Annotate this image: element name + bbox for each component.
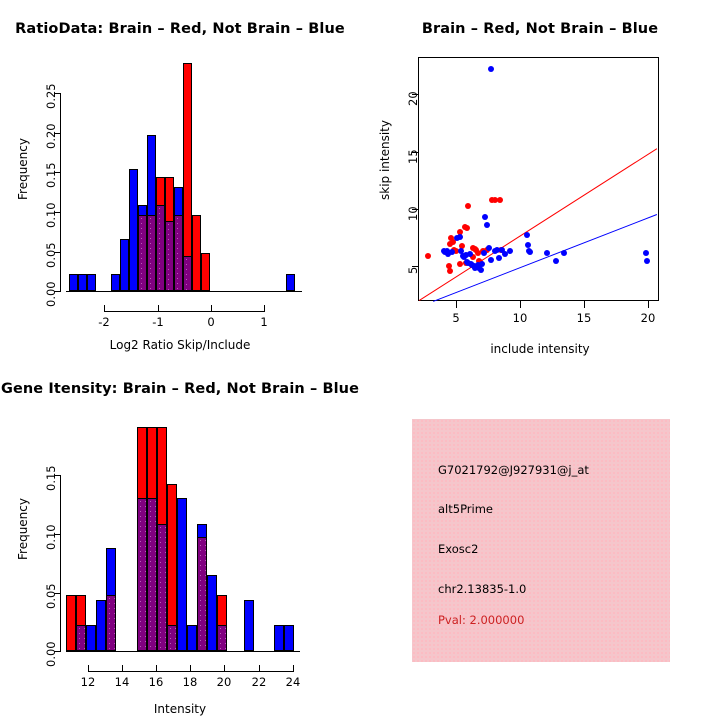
table-row <box>111 274 120 291</box>
table-row <box>167 625 177 651</box>
ratio-histogram-ytick-label-4: 0.20 <box>44 123 58 149</box>
gene-histogram-xtick-label-5: 22 <box>241 675 277 689</box>
ratio-histogram-ytick-label-5: 0.25 <box>44 83 58 109</box>
scatter-xtick-label-0: 5 <box>438 311 474 325</box>
figure-canvas: RatioData: Brain – Red, Not Brain – Blue… <box>0 0 720 720</box>
list-item <box>488 66 494 72</box>
probe-id-text: G7021792@J927931@j_at <box>438 463 589 477</box>
gene-histogram-xtick-label-2: 16 <box>138 675 174 689</box>
ratio-histogram-xtick-label-0: -2 <box>86 315 122 329</box>
list-item <box>496 255 502 261</box>
table-row <box>217 625 227 651</box>
locus-text: chr2.13835-1.0 <box>438 582 526 596</box>
xtick-1 <box>158 305 159 312</box>
pval-text: Pval: 2.000000 <box>438 613 524 627</box>
gene-xtick-4 <box>224 665 225 672</box>
table-row <box>284 625 294 651</box>
gene-histogram-xtick-label-4: 20 <box>206 675 242 689</box>
ratio-histogram-ytick-label-0: 0.00 <box>44 281 58 307</box>
table-row <box>76 625 86 651</box>
list-item <box>527 249 533 255</box>
table-row <box>86 625 96 651</box>
list-item <box>482 214 488 220</box>
panel-ratio-histogram: RatioData: Brain – Red, Not Brain – Blue… <box>0 0 360 360</box>
gene-xtick-3 <box>190 665 191 672</box>
table-row <box>147 498 157 651</box>
ratio-histogram-xaxis <box>104 311 265 312</box>
scatter-ytick-label-0: 5 <box>406 267 420 274</box>
table-row <box>165 221 174 291</box>
ratio-histogram-title: RatioData: Brain – Red, Not Brain – Blue <box>0 21 360 37</box>
scatter-ylabel: skip intensity <box>378 120 392 200</box>
list-item <box>425 253 431 259</box>
ratio-histogram-xtick-label-1: -1 <box>140 315 176 329</box>
list-item <box>465 203 471 209</box>
list-item <box>481 250 487 256</box>
scatter-xtick-1 <box>520 301 521 308</box>
gene-histogram-xtick-label-0: 12 <box>70 675 106 689</box>
brain-fit-line <box>419 148 657 301</box>
scatter-xtick-0 <box>456 301 457 308</box>
gene-histogram-xtick-label-1: 14 <box>104 675 140 689</box>
xtick-0 <box>104 305 105 312</box>
list-item <box>467 251 473 257</box>
scatter-xlabel: include intensity <box>360 342 720 356</box>
table-row <box>197 537 207 651</box>
ratio-histogram-ylabel: Frequency <box>16 138 30 200</box>
gene-histogram-baseline <box>66 651 300 652</box>
ratio-histogram-xtick-label-2: 0 <box>193 315 229 329</box>
list-item <box>447 268 453 274</box>
table-row <box>120 239 129 291</box>
table-row <box>157 524 167 651</box>
gene-xtick-0 <box>88 665 89 672</box>
scatter-plot-frame <box>418 57 659 301</box>
list-item <box>497 197 503 203</box>
table-row <box>192 215 201 291</box>
table-row <box>156 205 165 291</box>
gene-histogram-ytick-label-1: 0.05 <box>44 583 58 609</box>
gene-histogram-ytick-label-3: 0.15 <box>44 465 58 491</box>
table-row <box>183 256 192 291</box>
scatter-xtick-2 <box>584 301 585 308</box>
gene-xtick-6 <box>293 665 294 672</box>
scatter-xtick-3 <box>648 301 649 308</box>
table-row <box>187 625 197 651</box>
list-item <box>643 250 649 256</box>
table-row <box>87 274 96 291</box>
table-row <box>66 595 76 651</box>
ratio-histogram-baseline <box>66 291 302 292</box>
table-row <box>69 274 78 291</box>
event-type-text: alt5Prime <box>438 502 493 516</box>
gene-symbol-text: Exosc2 <box>438 542 478 556</box>
list-item <box>488 257 494 263</box>
xtick-2 <box>211 305 212 312</box>
gene-histogram-xlabel: Intensity <box>0 702 360 716</box>
scatter-xtick-label-1: 10 <box>502 311 538 325</box>
scatter-ytick-label-1: 10 <box>406 206 420 221</box>
ratio-histogram-yaxis <box>60 93 61 292</box>
gene-histogram-xtick-label-6: 24 <box>275 675 311 689</box>
scatter-ytick-label-3: 20 <box>406 91 420 106</box>
table-row <box>201 253 210 291</box>
gene-xtick-1 <box>122 665 123 672</box>
table-row <box>177 498 187 651</box>
table-row <box>244 600 254 651</box>
scatter-xtick-label-3: 20 <box>630 311 666 325</box>
table-row <box>274 625 284 651</box>
gene-histogram-ytick-label-2: 0.10 <box>44 524 58 550</box>
panel-scatter: Brain – Red, Not Brain – Blue skip inten… <box>360 0 720 360</box>
ratio-histogram-ytick-label-1: 0.05 <box>44 242 58 268</box>
table-row <box>78 274 87 291</box>
list-item <box>524 232 530 238</box>
panel-info: G7021792@J927931@j_at alt5Prime Exosc2 c… <box>360 360 720 720</box>
table-row <box>207 575 217 651</box>
table-row <box>138 215 147 291</box>
list-item <box>561 250 567 256</box>
scatter-xtick-label-2: 15 <box>566 311 602 325</box>
list-item <box>484 222 490 228</box>
list-item <box>507 248 513 254</box>
ratio-histogram-xlabel: Log2 Ratio Skip/Include <box>0 338 360 352</box>
table-row <box>174 215 183 291</box>
list-item <box>479 261 485 267</box>
table-row <box>147 215 156 291</box>
gene-histogram-yaxis <box>60 475 61 652</box>
gene-histogram-title: Gene Itensity: Brain – Red, Not Brain – … <box>0 381 360 397</box>
table-row <box>129 169 138 291</box>
list-item <box>544 250 550 256</box>
scatter-title: Brain – Red, Not Brain – Blue <box>360 21 720 37</box>
table-row <box>96 600 106 651</box>
table-row <box>286 274 295 291</box>
list-item <box>478 267 484 273</box>
ratio-histogram-xtick-label-3: 1 <box>246 315 282 329</box>
gene-xtick-2 <box>156 665 157 672</box>
gene-histogram-xtick-label-3: 18 <box>172 675 208 689</box>
list-item <box>457 234 463 240</box>
table-row <box>106 595 116 651</box>
scatter-ytick-label-2: 15 <box>406 149 420 164</box>
gene-histogram-ylabel: Frequency <box>16 498 30 560</box>
table-row <box>137 498 147 651</box>
panel-gene-histogram: Gene Itensity: Brain – Red, Not Brain – … <box>0 360 360 720</box>
info-panel-box: G7021792@J927931@j_at alt5Prime Exosc2 c… <box>412 419 670 662</box>
ratio-histogram-ytick-label-2: 0.10 <box>44 202 58 228</box>
gene-histogram-xaxis <box>88 671 294 672</box>
ratio-histogram-ytick-label-3: 0.15 <box>44 162 58 188</box>
xtick-3 <box>264 305 265 312</box>
gene-xtick-5 <box>259 665 260 672</box>
list-item <box>449 249 455 255</box>
list-item <box>464 225 470 231</box>
list-item <box>644 258 650 264</box>
gene-histogram-ytick-label-0: 0.00 <box>44 641 58 667</box>
list-item <box>553 258 559 264</box>
